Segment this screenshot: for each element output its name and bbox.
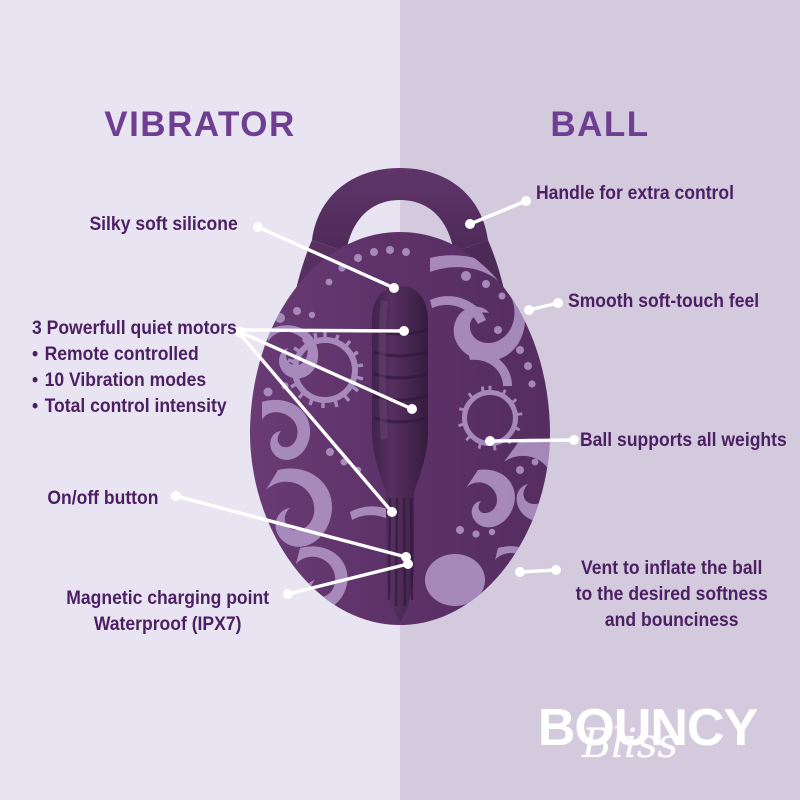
callout-magnetic-charging: Magnetic charging point Waterproof (IPX7… — [66, 585, 269, 637]
callout-onoff-button: On/off button — [47, 485, 158, 511]
callout-silky-soft-silicone: Silky soft silicone — [90, 211, 238, 237]
callout-ball-supports-all-weights: Ball supports all weights — [580, 427, 787, 453]
product-infographic: VIBRATOR BALL Silky soft silicone 3 Powe… — [0, 0, 800, 800]
callout-magnetic-line1: Magnetic charging point — [66, 585, 269, 611]
callout-smooth-soft-touch-feel: Smooth soft-touch feel — [568, 288, 759, 314]
callout-vent-line3: and bounciness — [576, 607, 768, 633]
callout-vent-line1: Vent to inflate the ball — [576, 555, 768, 581]
callout-handle-for-extra-control: Handle for extra control — [536, 180, 734, 206]
callout-motors-bullet-intensity: Total control intensity — [32, 393, 237, 419]
callout-vent-inflate: Vent to inflate the ball to the desired … — [576, 555, 768, 633]
callout-motors-bullet-modes: 10 Vibration modes — [32, 367, 237, 393]
callout-magnetic-line2: Waterproof (IPX7) — [66, 611, 269, 637]
brand-script-bliss: Bliss — [505, 722, 755, 766]
brand-logo: BOUNCY Bliss — [505, 700, 790, 785]
callout-motors-bullet-remote: Remote controlled — [32, 341, 237, 367]
page-title-vibrator: VIBRATOR — [0, 105, 400, 145]
callout-motors-title: 3 Powerfull quiet motors — [32, 315, 237, 341]
callout-vent-line2: to the desired softness — [576, 581, 768, 607]
callout-motors: 3 Powerfull quiet motors Remote controll… — [32, 315, 237, 419]
page-title-ball: BALL — [400, 105, 800, 145]
